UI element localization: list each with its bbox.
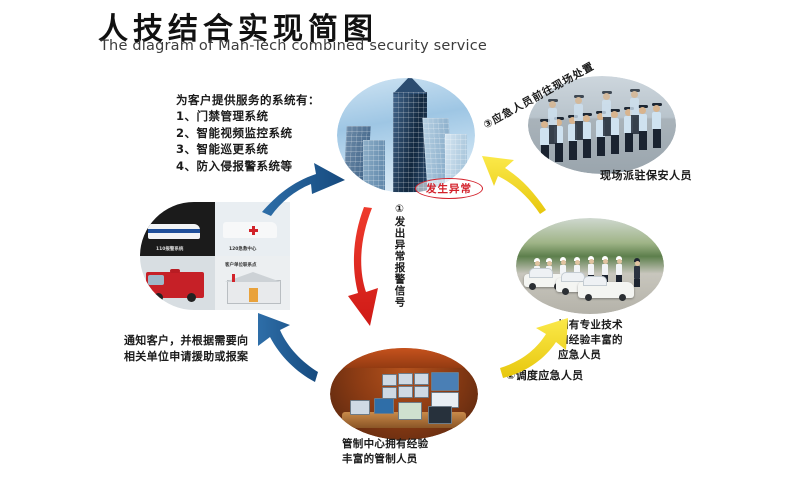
page-title-en: The diagram of Man-Tech combined securit… — [100, 38, 487, 54]
desk-monitor-icon — [428, 406, 452, 424]
step-1-label: ①发出异常报警信号 — [394, 203, 405, 308]
arrow-blue-left-up — [258, 313, 318, 382]
staff-figure-icon — [634, 258, 640, 284]
diagram-canvas: 人技结合实现简图 The diagram of Man-Tech combine… — [0, 0, 802, 477]
wall-monitor-icon — [382, 374, 397, 386]
staff-figure-icon — [616, 256, 622, 283]
desk-monitor-icon — [350, 400, 370, 415]
tile-relief-tent: 客户单位联系点 — [215, 256, 290, 310]
desk-monitor-icon — [398, 402, 422, 420]
tile-ambulance: 120急救中心 — [215, 202, 290, 256]
building-icon — [363, 140, 385, 192]
desk-monitor-icon — [374, 398, 394, 414]
guard-figure-icon — [652, 103, 661, 148]
guard-figure-icon — [602, 91, 611, 136]
ambulance-icon — [223, 222, 277, 238]
tile-fire-truck — [140, 256, 215, 310]
caption-control-center: 管制中心拥有经验 丰富的管制人员 — [342, 437, 428, 467]
caption-notify-client: 通知客户，并根据需要向 相关单位申请援助或报案 — [124, 333, 248, 365]
wall-monitor-icon — [414, 373, 429, 385]
wall-monitor-icon — [414, 386, 429, 398]
caption-emergency-staff: 拥有专业技术 和经验丰富的 应急人员 — [558, 318, 623, 364]
fire-truck-icon — [146, 272, 204, 298]
guard-figure-icon — [582, 113, 591, 158]
guard-figure-icon — [630, 89, 639, 134]
tile-label: 客户单位联系点 — [225, 262, 257, 268]
guard-figure-icon — [574, 95, 583, 140]
guard-figure-icon — [610, 109, 619, 154]
relief-tent-icon — [227, 272, 279, 302]
ceiling-panel — [330, 348, 478, 368]
tile-label: 110报警系统 — [156, 246, 183, 252]
arrow-red-down — [348, 207, 378, 326]
systems-heading: 为客户提供服务的系统有： — [176, 92, 320, 109]
node-rescue-units[interactable]: 110报警系统 120急救中心 — [140, 202, 290, 310]
skyscraper-icon — [393, 92, 427, 192]
video-wall-icon — [431, 372, 459, 391]
systems-list: 1、门禁管理系统 2、智能视频监控系统 3、智能巡更系统 4、防入侵报警系统等 — [176, 108, 293, 175]
node-emergency-staff[interactable] — [516, 218, 664, 314]
caption-onsite-guards: 现场派驻保安人员 — [600, 168, 692, 184]
patrol-car-icon — [578, 282, 634, 298]
arrow-yellow-up — [482, 156, 546, 214]
node-customer-buildings[interactable] — [337, 78, 475, 193]
guard-figure-icon — [548, 99, 557, 144]
guard-figure-icon — [638, 105, 647, 150]
wall-monitor-icon — [398, 386, 413, 398]
step-2-label: ②调度应急人员 — [506, 368, 583, 384]
wall-monitor-icon — [398, 373, 413, 385]
tile-label: 120急救中心 — [229, 246, 256, 252]
node-control-center[interactable] — [330, 348, 478, 440]
tile-police-car: 110报警系统 — [140, 202, 215, 256]
status-badge-abnormal: 发生异常 — [415, 178, 483, 199]
police-car-icon — [148, 224, 200, 239]
